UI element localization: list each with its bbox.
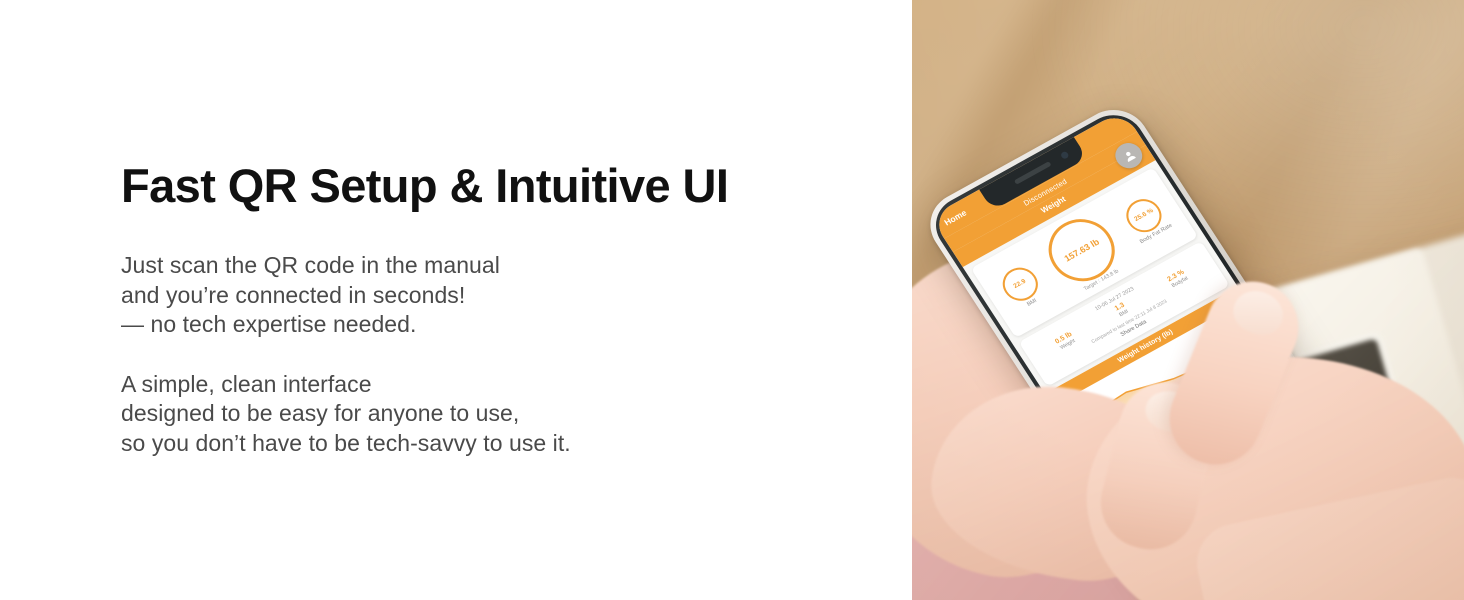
fingernail-icon bbox=[1227, 284, 1289, 342]
gauge-weight-value: 157.63 lb bbox=[1036, 208, 1127, 293]
paragraph-qr-setup: Just scan the QR code in the manual and … bbox=[121, 251, 851, 340]
paragraph-2-line-3: so you don’t have to be tech-savvy to us… bbox=[121, 429, 851, 459]
app-header-title: Home bbox=[942, 208, 968, 228]
promo-banner: Fast QR Setup & Intuitive UI Just scan t… bbox=[0, 0, 1464, 600]
paragraph-clean-interface: A simple, clean interface designed to be… bbox=[121, 370, 851, 459]
copy-block: Fast QR Setup & Intuitive UI Just scan t… bbox=[121, 160, 851, 458]
paragraph-1-line-2: and you’re connected in seconds! bbox=[121, 281, 851, 311]
gauge-bmi[interactable]: 22.9 BMI bbox=[996, 261, 1049, 313]
camera-icon bbox=[1060, 151, 1070, 160]
gauge-bodyfat[interactable]: 25.6 % Body Fat Rate bbox=[1119, 192, 1173, 245]
product-photo: Home Disconnected Weight 22.9 BMI bbox=[912, 0, 1464, 600]
copy-panel: Fast QR Setup & Intuitive UI Just scan t… bbox=[0, 0, 912, 600]
paragraph-2-line-2: designed to be easy for anyone to use, bbox=[121, 399, 851, 429]
paragraph-1-line-1: Just scan the QR code in the manual bbox=[121, 251, 851, 281]
paragraph-1-line-3: — no tech expertise needed. bbox=[121, 310, 851, 340]
gauge-weight[interactable]: 157.63 lb Target : 143.8 lb bbox=[1036, 208, 1131, 299]
paragraph-2-line-1: A simple, clean interface bbox=[121, 370, 851, 400]
page-title: Fast QR Setup & Intuitive UI bbox=[121, 160, 851, 212]
